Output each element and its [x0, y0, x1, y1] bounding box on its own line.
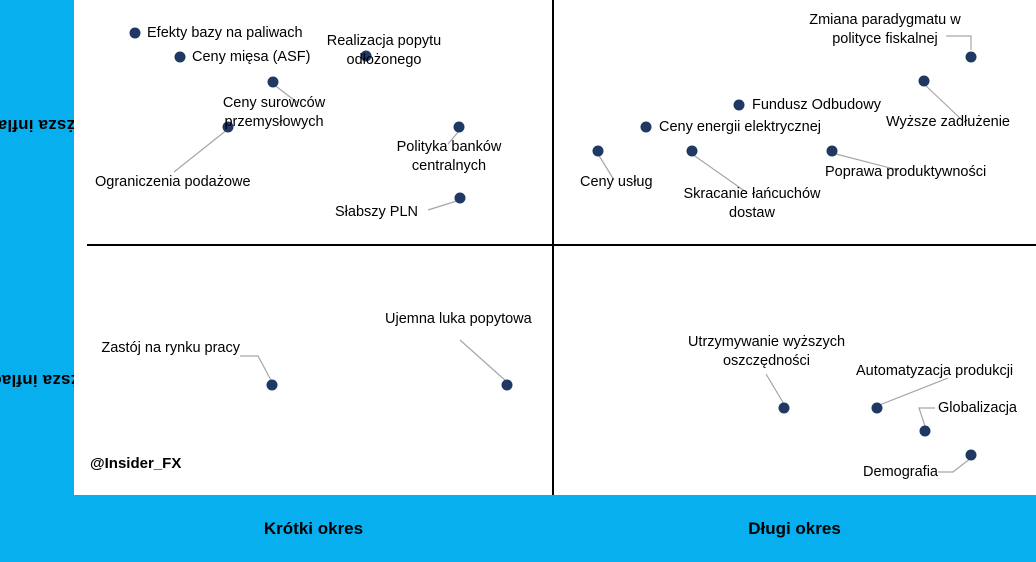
- point-label-ceny-surowcow: Ceny surowców przemysłowych: [194, 94, 354, 132]
- data-point-skracanie-lancuchow-dostaw[interactable]: [687, 146, 698, 157]
- point-label-ujemna-luka-popytowa: Ujemna luka popytowa: [385, 310, 532, 329]
- point-label-ograniczenia-podazowe: Ograniczenia podażowe: [95, 173, 251, 192]
- point-label-slabszy-pln: Słabszy PLN: [258, 203, 418, 222]
- point-label-poprawa-produktywnosci: Poprawa produktywności: [825, 163, 986, 182]
- data-point-ceny-surowcow-przemyslowych[interactable]: [268, 77, 279, 88]
- data-point-utrzymywanie-wyzszych-oszczednosci[interactable]: [779, 403, 790, 414]
- data-point-demografia[interactable]: [966, 450, 977, 461]
- point-label-demografia: Demografia: [788, 463, 938, 482]
- data-point-globalizacja[interactable]: [920, 426, 931, 437]
- point-label-globalizacja: Globalizacja: [938, 399, 1017, 418]
- left-axis-band: Wyższa inflacja Niższa inflacja: [0, 0, 74, 562]
- point-label-ceny-energii: Ceny energii elektrycznej: [659, 118, 821, 137]
- point-label-ceny-miesa-asf: Ceny mięsa (ASF): [192, 48, 310, 67]
- point-label-zastoj-na-rynku-pracy: Zastój na rynku pracy: [80, 339, 240, 358]
- point-label-automatyzacja-produkcji: Automatyzacja produkcji: [856, 362, 1013, 381]
- x-axis-label-short: Krótki okres: [74, 495, 553, 562]
- leader-line-ujemna-luka: [460, 340, 507, 382]
- data-point-slabszy-pln[interactable]: [455, 193, 466, 204]
- leader-line-demografia: [938, 458, 971, 472]
- data-point-zastoj-na-rynku-pracy[interactable]: [267, 380, 278, 391]
- point-label-zmiana-paradygmatu: Zmiana paradygmatu w polityce fiskalnej: [790, 11, 980, 49]
- data-point-efekty-bazy-na-paliwach[interactable]: [130, 28, 141, 39]
- leader-line-zastoj: [240, 356, 272, 382]
- leader-line-ograniczenia: [174, 129, 228, 172]
- x-axis-label-long: Długi okres: [553, 495, 1036, 562]
- point-label-skracanie-lancuchow: Skracanie łańcuchów dostaw: [672, 185, 832, 223]
- leader-line-oszczednosci: [766, 374, 784, 404]
- point-label-efekty-bazy-na-paliwach: Efekty bazy na paliwach: [147, 24, 303, 43]
- data-point-polityka-bankow-centralnych[interactable]: [454, 122, 465, 133]
- leader-line-globalizacja: [919, 408, 935, 426]
- data-point-poprawa-produktywnosci[interactable]: [827, 146, 838, 157]
- data-point-wyzsze-zadluzenie[interactable]: [919, 76, 930, 87]
- leader-lines-group: [74, 0, 1036, 495]
- infographic-canvas: Wyższa inflacja Niższa inflacja Krótki o…: [0, 0, 1036, 562]
- data-point-zmiana-paradygmatu[interactable]: [966, 52, 977, 63]
- data-point-fundusz-odbudowy[interactable]: [734, 100, 745, 111]
- point-label-ceny-uslug: Ceny usług: [580, 173, 653, 192]
- quadrant-plot-area: Efekty bazy na paliwach Ceny mięsa (ASF)…: [74, 0, 1036, 495]
- point-label-utrzymywanie-oszczednosci: Utrzymywanie wyższych oszczędności: [674, 333, 859, 371]
- y-axis-label-high: Wyższa inflacja: [0, 20, 74, 230]
- data-point-ujemna-luka-popytowa[interactable]: [502, 380, 513, 391]
- point-label-realizacja-popytu: Realizacja popytu odłożonego: [304, 32, 464, 70]
- point-label-fundusz-odbudowy: Fundusz Odbudowy: [752, 96, 881, 115]
- data-point-automatyzacja-produkcji[interactable]: [872, 403, 883, 414]
- y-axis-label-low: Niższa inflacja: [0, 275, 74, 485]
- point-label-polityka-bankow: Polityka banków centralnych: [379, 138, 519, 176]
- watermark-handle: @Insider_FX: [90, 455, 181, 472]
- data-point-ceny-uslug[interactable]: [593, 146, 604, 157]
- data-point-ceny-energii-elektrycznej[interactable]: [641, 122, 652, 133]
- data-point-ceny-miesa-asf[interactable]: [175, 52, 186, 63]
- point-label-wyzsze-zadluzenie: Wyższe zadłużenie: [886, 113, 1010, 132]
